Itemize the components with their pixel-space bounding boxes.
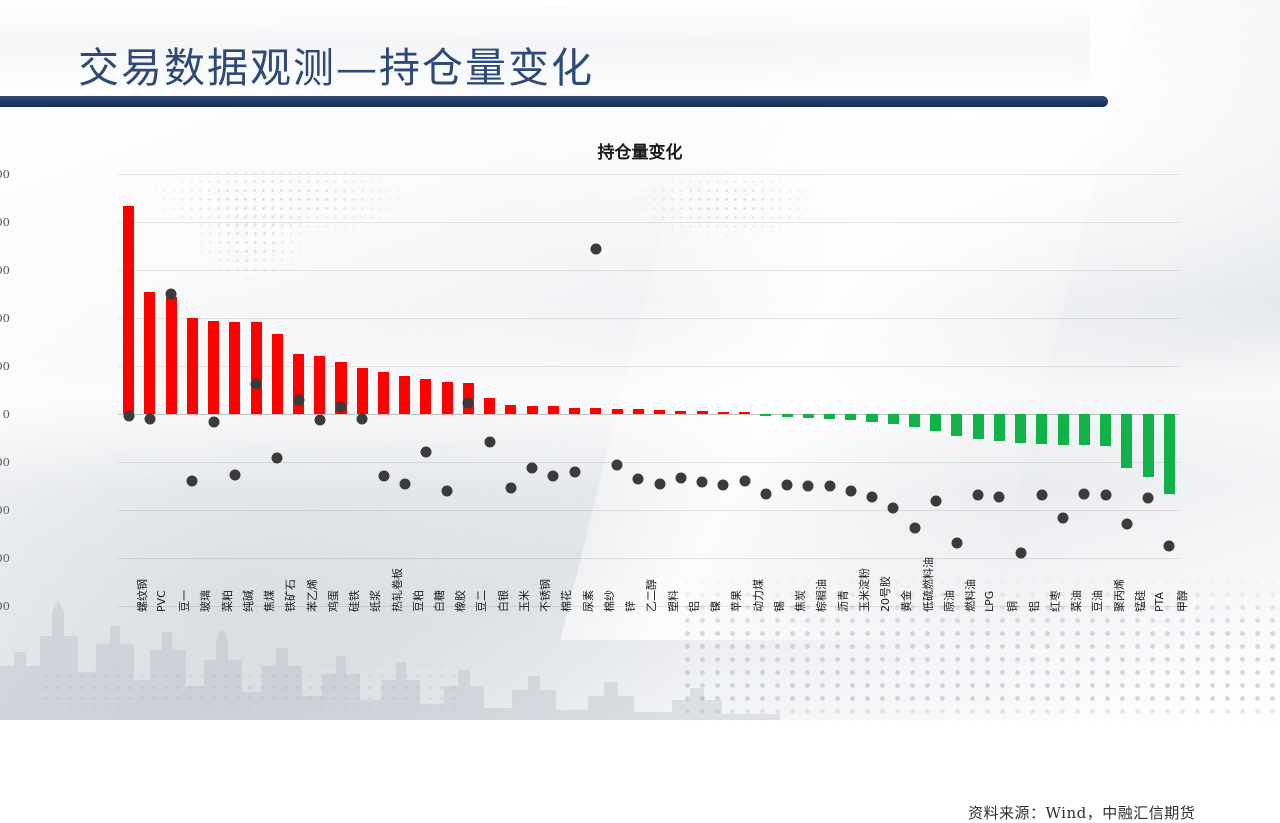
bar xyxy=(378,372,389,414)
scatter-point xyxy=(824,481,835,492)
bar xyxy=(1058,414,1069,445)
x-axis-tick-label: 铝 xyxy=(1026,601,1042,612)
bar xyxy=(739,412,750,414)
bar xyxy=(229,322,240,414)
x-axis-tick-label: 热轧卷板 xyxy=(389,568,405,612)
x-axis-tick-label: 纸浆 xyxy=(367,590,383,612)
bar xyxy=(357,368,368,414)
bar xyxy=(909,414,920,427)
scatter-point xyxy=(293,395,304,406)
gridline xyxy=(118,270,1180,271)
scatter-point xyxy=(484,436,495,447)
x-axis-tick-label: 尿素 xyxy=(580,590,596,612)
x-axis-tick-label: 甲醇 xyxy=(1174,590,1190,612)
scatter-point xyxy=(760,488,771,499)
y-axis-tick-label: -20000 xyxy=(0,455,10,469)
scatter-point xyxy=(803,481,814,492)
bar xyxy=(1079,414,1090,445)
scatter-point xyxy=(590,243,601,254)
bar xyxy=(484,398,495,414)
bar xyxy=(569,408,580,414)
x-axis-tick-label: 铜 xyxy=(1004,601,1020,612)
x-axis-tick-label: 铝 xyxy=(686,601,702,612)
x-axis-tick-label: 沥青 xyxy=(835,590,851,612)
bar xyxy=(973,414,984,439)
x-axis-tick-label: 锌 xyxy=(622,601,638,612)
scatter-point xyxy=(166,288,177,299)
scatter-point xyxy=(633,474,644,485)
bar xyxy=(527,406,538,414)
x-axis-tick-label: 棉花 xyxy=(558,590,574,612)
bar xyxy=(144,292,155,414)
x-axis-tick-label: 白糖 xyxy=(431,590,447,612)
bar xyxy=(420,379,431,414)
bar xyxy=(548,406,559,414)
y-axis-tick-label: -40000 xyxy=(0,503,10,517)
x-axis-tick-label: 菜油 xyxy=(1068,590,1084,612)
bar xyxy=(1143,414,1154,477)
x-axis-tick-label: PVC xyxy=(155,590,168,612)
x-axis-tick-label: 苹果 xyxy=(728,590,744,612)
chart-title: 持仓量变化 xyxy=(0,138,1280,163)
bar xyxy=(718,412,729,414)
gridline xyxy=(118,222,1180,223)
x-axis-tick-label: 锰硅 xyxy=(1132,590,1148,612)
scatter-point xyxy=(951,537,962,548)
y-axis-tick-label: -60000 xyxy=(0,551,10,565)
page-title: 交易数据观测—持仓量变化 xyxy=(78,34,594,94)
scatter-point xyxy=(527,462,538,473)
x-axis-tick-label: 豆一 xyxy=(176,590,192,612)
bar xyxy=(505,405,516,414)
x-axis-tick-label: 聚丙烯 xyxy=(1111,579,1127,612)
bar xyxy=(399,376,410,414)
scatter-point xyxy=(569,467,580,478)
scatter-point xyxy=(442,485,453,496)
scatter-point xyxy=(867,491,878,502)
x-axis-tick-label: 红枣 xyxy=(1047,590,1063,612)
bar xyxy=(187,318,198,414)
scatter-point xyxy=(1058,513,1069,524)
y-axis-tick-label: 20000 xyxy=(0,359,10,373)
bar xyxy=(803,414,814,418)
scatter-point xyxy=(357,413,368,424)
x-axis-tick-label: 原油 xyxy=(941,590,957,612)
bar xyxy=(612,409,623,414)
scatter-point xyxy=(420,446,431,457)
x-axis-tick-label: 铁矿石 xyxy=(282,579,298,612)
x-axis-tick-label: 螺纹钢 xyxy=(134,579,150,612)
bar xyxy=(208,321,219,414)
x-axis-tick-label: 豆油 xyxy=(1089,590,1105,612)
x-axis-tick-label: 鸡蛋 xyxy=(325,590,341,612)
scatter-point xyxy=(1036,490,1047,501)
bar xyxy=(1036,414,1047,444)
scatter-point xyxy=(739,475,750,486)
scatter-point xyxy=(1015,547,1026,558)
scatter-point xyxy=(548,471,559,482)
bar xyxy=(1015,414,1026,443)
x-axis-tick-label: 豆二 xyxy=(473,590,489,612)
x-axis-tick-label: 棉纱 xyxy=(601,590,617,612)
source-note: 资料来源：Wind，中融汇信期货 xyxy=(968,802,1195,823)
scatter-point xyxy=(229,469,240,480)
x-axis-tick-label: 锡 xyxy=(771,601,787,612)
x-axis-tick-label: 低硫燃料油 xyxy=(920,557,936,612)
title-accent-rule xyxy=(0,96,1108,107)
bar xyxy=(123,206,134,414)
chart-plot-area: 100000800006000040000200000-20000-40000-… xyxy=(118,174,1180,606)
y-axis-tick-label: -80000 xyxy=(0,599,10,613)
x-axis-tick-label: 黄金 xyxy=(898,590,914,612)
scatter-point xyxy=(1100,490,1111,501)
bar xyxy=(760,414,771,416)
slide-title-bar: 交易数据观测—持仓量变化 xyxy=(0,0,1280,118)
x-axis-tick-label: 不锈钢 xyxy=(537,579,553,612)
x-axis-tick-label: 塑料 xyxy=(665,590,681,612)
scatter-point xyxy=(208,416,219,427)
x-axis-tick-label: 焦炭 xyxy=(792,590,808,612)
scatter-point xyxy=(463,397,474,408)
x-axis-tick-label: LPG xyxy=(983,591,996,612)
scatter-point xyxy=(888,503,899,514)
scatter-point xyxy=(399,478,410,489)
scatter-point xyxy=(505,482,516,493)
bar xyxy=(930,414,941,431)
scatter-point xyxy=(697,477,708,488)
chart-container: 持仓量变化 100000800006000040000200000-20000-… xyxy=(0,118,1280,720)
x-axis-tick-label: 苯乙烯 xyxy=(304,579,320,612)
scatter-point xyxy=(1121,518,1132,529)
y-axis-tick-label: 40000 xyxy=(0,311,10,325)
y-axis-tick-label: 60000 xyxy=(0,263,10,277)
scatter-point xyxy=(1164,540,1175,551)
scatter-point xyxy=(336,402,347,413)
scatter-point xyxy=(909,523,920,534)
scatter-point xyxy=(612,459,623,470)
x-axis-tick-label: 玻璃 xyxy=(197,590,213,612)
scatter-point xyxy=(994,491,1005,502)
scatter-point xyxy=(144,413,155,424)
bar xyxy=(633,409,644,414)
bar xyxy=(845,414,856,420)
gridline xyxy=(118,318,1180,319)
scatter-point xyxy=(930,495,941,506)
scatter-point xyxy=(845,485,856,496)
scatter-point xyxy=(718,480,729,491)
bar xyxy=(590,408,601,414)
scatter-point xyxy=(973,490,984,501)
x-axis-tick-label: 橡胶 xyxy=(452,590,468,612)
scatter-point xyxy=(1143,493,1154,504)
x-axis-tick-label: 硅铁 xyxy=(346,590,362,612)
scatter-point xyxy=(123,410,134,421)
scatter-point xyxy=(654,478,665,489)
x-axis-tick-label: PTA xyxy=(1153,592,1166,612)
x-axis-tick-label: 玉米 xyxy=(516,590,532,612)
y-axis-tick-label: 0 xyxy=(0,407,10,421)
x-axis-tick-label: 焦煤 xyxy=(261,590,277,612)
gridline xyxy=(118,510,1180,511)
bar xyxy=(1100,414,1111,446)
bar xyxy=(654,410,665,414)
scatter-point xyxy=(251,379,262,390)
y-axis-tick-label: 100000 xyxy=(0,167,10,181)
bar xyxy=(888,414,899,424)
x-axis-tick-label: 棕榈油 xyxy=(813,579,829,612)
x-axis-tick-label: 镍 xyxy=(707,601,723,612)
bar xyxy=(314,356,325,414)
x-axis-tick-label: 乙二醇 xyxy=(643,579,659,612)
bar xyxy=(442,382,453,414)
bar xyxy=(166,297,177,414)
scatter-point xyxy=(782,480,793,491)
x-axis-tick-label: 纯碱 xyxy=(240,590,256,612)
scatter-point xyxy=(272,452,283,463)
x-axis-tick-label: 白银 xyxy=(495,590,511,612)
scatter-point xyxy=(378,471,389,482)
scatter-point xyxy=(314,415,325,426)
bar xyxy=(782,414,793,417)
bar xyxy=(951,414,962,436)
bar xyxy=(1164,414,1175,494)
y-axis-tick-label: 80000 xyxy=(0,215,10,229)
x-axis-tick-label: 菜粕 xyxy=(219,590,235,612)
bar xyxy=(824,414,835,419)
scatter-point xyxy=(675,472,686,483)
x-axis-tick-label: 动力煤 xyxy=(750,579,766,612)
gridline xyxy=(118,174,1180,175)
bar xyxy=(866,414,877,422)
x-axis-tick-label: 燃料油 xyxy=(962,579,978,612)
bar xyxy=(272,334,283,414)
x-axis-tick-label: 玉米淀粉 xyxy=(856,568,872,612)
x-axis-tick-label: 豆粕 xyxy=(410,590,426,612)
bar xyxy=(251,322,262,414)
bar xyxy=(994,414,1005,441)
scatter-point xyxy=(1079,488,1090,499)
bar xyxy=(675,411,686,414)
bar xyxy=(697,411,708,414)
x-axis-tick-label: 20号胶 xyxy=(877,576,893,612)
scatter-point xyxy=(187,475,198,486)
bar xyxy=(1121,414,1132,468)
